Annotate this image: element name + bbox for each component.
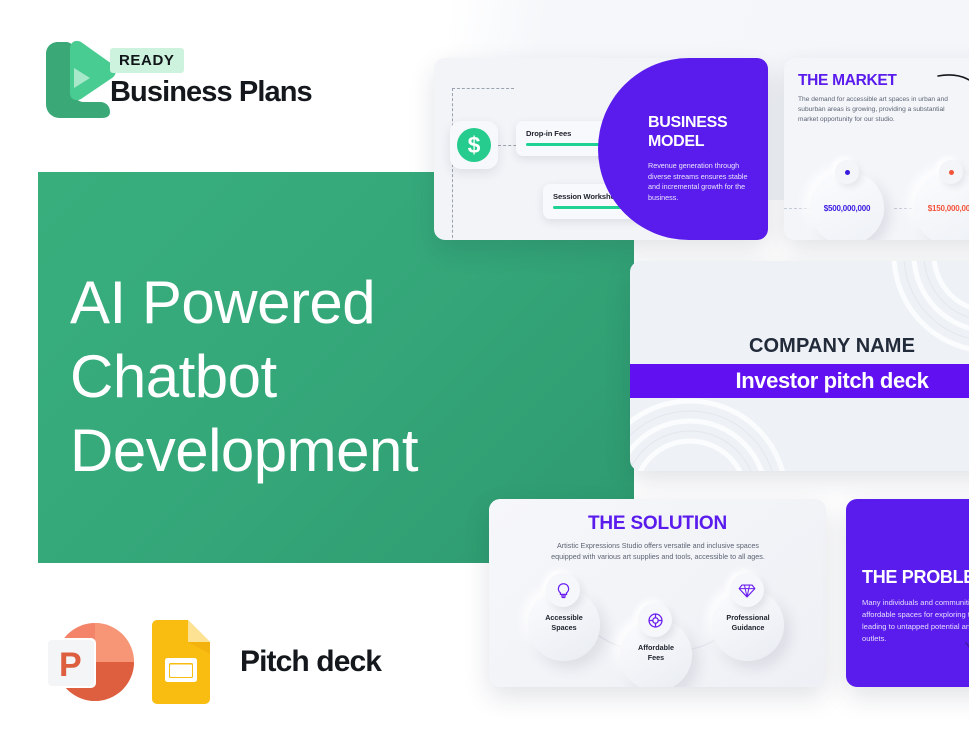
slide-the-problem[interactable]: THE PROBLEM Many individuals and communi… [846, 499, 969, 687]
node-label: Accessible Spaces [528, 613, 600, 633]
slide-body: Artistic Expressions Studio offers versa… [547, 540, 769, 562]
solution-node-affordable-fees[interactable]: Affordable Fees [620, 619, 692, 687]
slide-heading: BUSINESS MODEL [648, 113, 764, 151]
node-label: Affordable Fees [620, 643, 692, 663]
metric-circle-sam: $150,000,000 [914, 171, 969, 240]
curved-arrow-icon [936, 72, 969, 106]
investor-subtitle: Investor pitch deck [630, 364, 969, 398]
metric-value: $150,000,000 [914, 204, 969, 213]
market-dash-mid [894, 208, 912, 209]
metric-circle-tam: $500,000,000 [810, 171, 884, 240]
target-circle-icon [638, 603, 672, 637]
investor-band: Investor pitch deck [630, 364, 969, 398]
slide-title: THE SOLUTION [489, 513, 826, 535]
solution-node-accessible-spaces[interactable]: Accessible Spaces [528, 589, 600, 661]
ready-badge: READY [110, 48, 184, 73]
metric-dot-icon [949, 170, 954, 175]
lightbulb-icon [546, 573, 580, 607]
slide-title: THE MARKET [798, 72, 897, 90]
slide-title: THE PROBLEM [862, 567, 969, 588]
brand-lockup[interactable]: READY Business Plans [40, 36, 350, 120]
slide-the-market[interactable]: THE MARKET The demand for accessible art… [784, 58, 969, 240]
connector-to-dropin [452, 88, 514, 89]
format-row: P Pitch deck [38, 616, 381, 708]
metric-value: $500,000,000 [810, 204, 884, 213]
slide-investor-pitch-deck[interactable]: COMPANY NAME Investor pitch deck [630, 261, 969, 471]
node-label: Professional Guidance [712, 613, 784, 633]
brand-name: Business Plans [110, 76, 312, 109]
promo-banner: AI Powered Chatbot Development READY Bus… [0, 0, 969, 744]
page-title: AI Powered Chatbot Development [70, 266, 540, 488]
metric-dot-tile [835, 160, 859, 184]
metric-dot-icon [845, 170, 850, 175]
business-model-panel: BUSINESS MODEL Revenue generation throug… [598, 58, 768, 240]
svg-text:P: P [59, 646, 82, 684]
dollar-sign-icon: $ [457, 128, 491, 162]
product-label: Pitch deck [240, 645, 381, 679]
slide-business-model[interactable]: $ Drop-in Fees Session Workshops Commiss… [434, 58, 768, 240]
company-name: COMPANY NAME [630, 335, 969, 358]
solution-node-professional-guidance[interactable]: Professional Guidance [712, 589, 784, 661]
dollar-tile: $ [450, 121, 498, 169]
play-triangle-logo [40, 38, 118, 118]
powerpoint-icon: P [38, 616, 134, 708]
slide-body: Many individuals and communities lack ac… [862, 597, 969, 645]
google-slides-icon [148, 620, 214, 704]
swoosh-decoration [964, 639, 969, 675]
slide-body: The demand for accessible art spaces in … [798, 95, 954, 125]
market-dash-left [784, 208, 812, 209]
diamond-icon [730, 573, 764, 607]
metric-dot-tile [939, 160, 963, 184]
slide-body: Revenue generation through diverse strea… [648, 161, 760, 203]
slide-the-solution[interactable]: THE SOLUTION Artistic Expressions Studio… [489, 499, 826, 687]
